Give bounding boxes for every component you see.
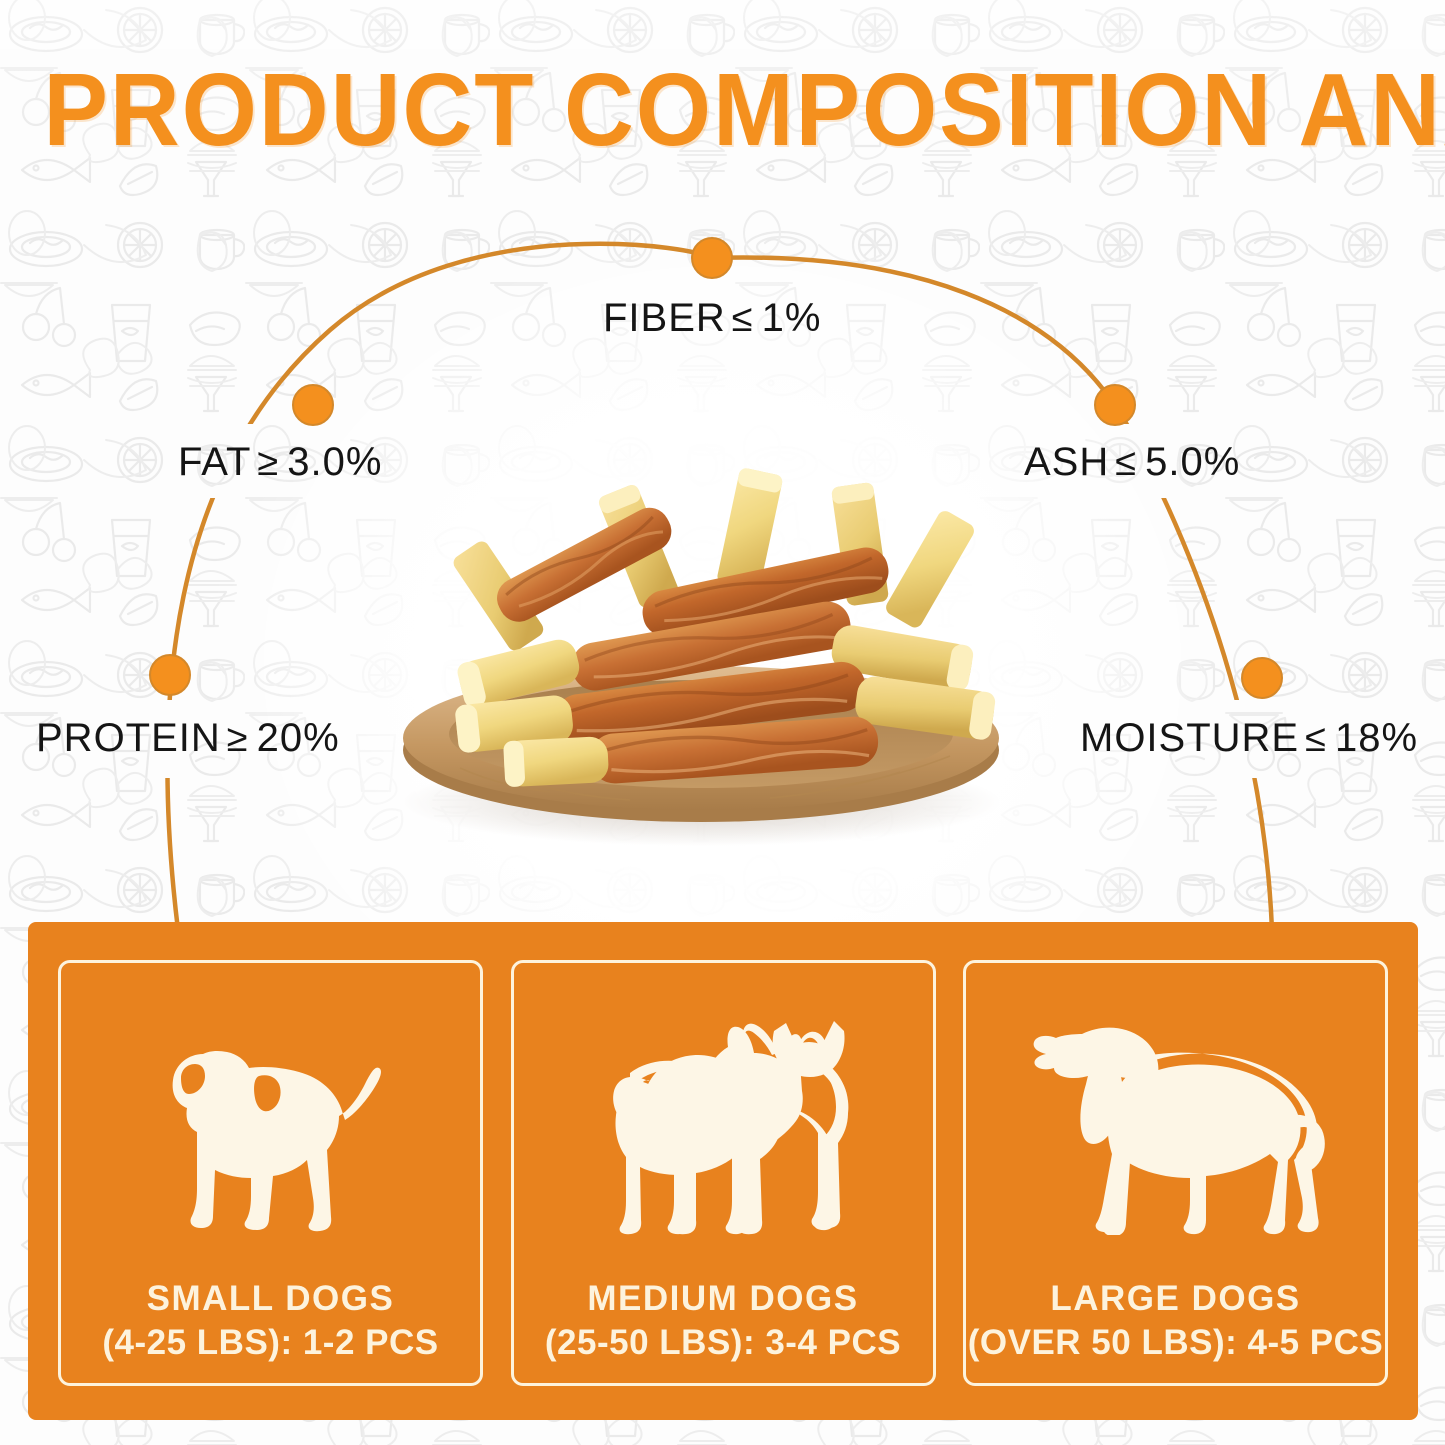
label-value-protein: 20%	[255, 716, 340, 760]
large-dog-icon	[976, 981, 1375, 1273]
dot-fiber	[692, 238, 732, 278]
label-symbol-protein: ≥	[221, 718, 255, 760]
label-name-protein: PROTEIN	[36, 716, 221, 760]
feeding-card-medium-dogs[interactable]: MEDIUM DOGS (25-50 LBS): 3-4 PCS	[511, 960, 936, 1386]
feeding-card-title: MEDIUM DOGS	[587, 1279, 858, 1319]
composition-label-ash: ASH≤5.0%	[1024, 440, 1240, 485]
feeding-card-small-dogs[interactable]: SMALL DOGS (4-25 LBS): 1-2 PCS	[58, 960, 483, 1386]
label-value-ash: 5.0%	[1143, 440, 1240, 484]
dot-ash	[1095, 385, 1135, 425]
feeding-guide-panel: SMALL DOGS (4-25 LBS): 1-2 PCS	[28, 922, 1418, 1420]
feeding-card-subtitle: (25-50 LBS): 3-4 PCS	[545, 1323, 901, 1363]
label-name-fiber: FIBER	[603, 296, 726, 340]
label-symbol-fat: ≥	[251, 442, 285, 484]
label-value-moisture: 18%	[1333, 716, 1418, 760]
label-name-moisture: MOISTURE	[1080, 716, 1299, 760]
label-name-ash: ASH	[1024, 440, 1109, 484]
feeding-card-subtitle: (4-25 LBS): 1-2 PCS	[102, 1323, 438, 1363]
label-symbol-fiber: ≤	[726, 298, 760, 340]
label-name-fat: FAT	[178, 440, 251, 484]
feeding-card-large-dogs[interactable]: LARGE DOGS (OVER 50 LBS): 4-5 PCS	[963, 960, 1388, 1386]
dot-fat	[293, 385, 333, 425]
page-title: PRODUCT COMPOSITION ANALYSIS	[43, 58, 1401, 161]
label-symbol-moisture: ≤	[1299, 718, 1333, 760]
feeding-card-title: LARGE DOGS	[1050, 1279, 1300, 1319]
composition-label-moisture: MOISTURE≤18%	[1080, 716, 1418, 761]
infographic-page: PRODUCT COMPOSITION ANALYSIS FIBE	[0, 0, 1445, 1445]
dot-moisture	[1242, 658, 1282, 698]
feeding-card-title: SMALL DOGS	[147, 1279, 395, 1319]
medium-dog-icon	[524, 981, 923, 1273]
composition-label-protein: PROTEIN≥20%	[36, 716, 340, 761]
small-dog-icon	[71, 981, 470, 1273]
label-value-fat: 3.0%	[285, 440, 382, 484]
label-value-fiber: 1%	[760, 296, 822, 340]
composition-label-fat: FAT≥3.0%	[178, 440, 382, 485]
label-symbol-ash: ≤	[1109, 442, 1143, 484]
dot-protein	[150, 655, 190, 695]
feeding-card-subtitle: (OVER 50 LBS): 4-5 PCS	[968, 1323, 1384, 1363]
product-photo	[340, 450, 1062, 850]
composition-label-fiber: FIBER≤1%	[603, 296, 821, 341]
